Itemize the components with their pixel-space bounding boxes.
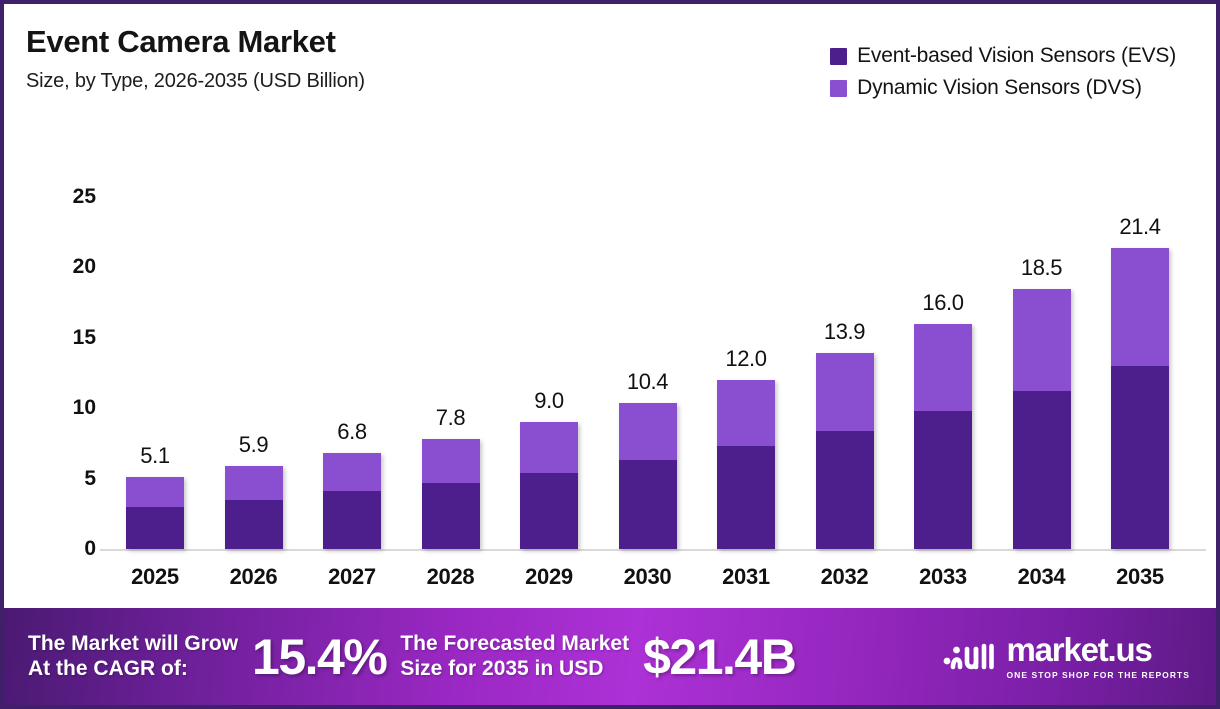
x-axis-tick: 2032 bbox=[800, 564, 890, 590]
bar-stack[interactable] bbox=[914, 324, 972, 549]
x-axis-baseline bbox=[100, 549, 1206, 551]
bar-stack[interactable] bbox=[520, 422, 578, 549]
logo-wordmark: market.us bbox=[1007, 633, 1152, 666]
cagr-caption: The Market will Grow At the CAGR of: bbox=[28, 632, 238, 682]
x-axis-tick: 2028 bbox=[406, 564, 496, 590]
y-axis: 0510152025 bbox=[36, 154, 96, 514]
x-axis-tick: 2033 bbox=[898, 564, 988, 590]
legend-item-dvs: Dynamic Vision Sensors (DVS) bbox=[830, 76, 1142, 100]
bar-segment-dvs[interactable] bbox=[323, 453, 381, 491]
bar-group[interactable]: 5.1 bbox=[126, 477, 184, 549]
bar-segment-evs[interactable] bbox=[126, 507, 184, 549]
market-us-logo-icon bbox=[943, 637, 997, 676]
y-axis-tick: 5 bbox=[36, 467, 96, 491]
bar-segment-evs[interactable] bbox=[717, 446, 775, 549]
bar-segment-evs[interactable] bbox=[1013, 391, 1071, 549]
forecast-caption: The Forecasted Market Size for 2035 in U… bbox=[400, 632, 629, 682]
bar-stack[interactable] bbox=[422, 439, 480, 549]
chart-plot-area: 0510152025 5.15.96.87.89.010.412.013.916… bbox=[4, 154, 1216, 609]
header-block: Event Camera Market Size, by Type, 2026-… bbox=[26, 24, 646, 93]
y-axis-tick: 10 bbox=[36, 396, 96, 420]
infographic-root: Event Camera Market Size, by Type, 2026-… bbox=[0, 0, 1220, 709]
bar-group[interactable]: 21.4 bbox=[1111, 248, 1169, 549]
market-us-logo[interactable]: market.us ONE STOP SHOP FOR THE REPORTS bbox=[943, 633, 1190, 680]
bar-stack[interactable] bbox=[717, 380, 775, 549]
x-axis-tick: 2029 bbox=[504, 564, 594, 590]
bar-segment-dvs[interactable] bbox=[914, 324, 972, 411]
bar-segment-dvs[interactable] bbox=[422, 439, 480, 483]
bar-segment-dvs[interactable] bbox=[1111, 248, 1169, 366]
bar-segment-dvs[interactable] bbox=[126, 477, 184, 507]
x-axis-tick: 2026 bbox=[209, 564, 299, 590]
legend-swatch-dvs bbox=[830, 80, 847, 97]
forecast-caption-line1: The Forecasted Market bbox=[400, 632, 629, 657]
page-subtitle: Size, by Type, 2026-2035 (USD Billion) bbox=[26, 70, 646, 93]
legend-item-evs: Event-based Vision Sensors (EVS) bbox=[830, 44, 1176, 68]
y-axis-tick: 25 bbox=[36, 185, 96, 209]
bar-segment-dvs[interactable] bbox=[816, 353, 874, 430]
bar-segment-evs[interactable] bbox=[816, 431, 874, 549]
bar-stack[interactable] bbox=[1013, 289, 1071, 549]
cagr-caption-line2: At the CAGR of: bbox=[28, 657, 238, 682]
bar-stack[interactable] bbox=[1111, 248, 1169, 549]
bar-value-label: 13.9 bbox=[800, 319, 890, 345]
x-axis-tick: 2025 bbox=[110, 564, 200, 590]
logo-tagline: ONE STOP SHOP FOR THE REPORTS bbox=[1007, 670, 1190, 680]
bar-stack[interactable] bbox=[126, 477, 184, 549]
bar-segment-evs[interactable] bbox=[225, 500, 283, 549]
bar-segment-evs[interactable] bbox=[422, 483, 480, 549]
legend-label-dvs: Dynamic Vision Sensors (DVS) bbox=[857, 76, 1142, 100]
summary-banner: The Market will Grow At the CAGR of: 15.… bbox=[4, 608, 1216, 705]
y-axis-tick: 15 bbox=[36, 326, 96, 350]
bar-group[interactable]: 7.8 bbox=[422, 439, 480, 549]
bar-value-label: 16.0 bbox=[898, 290, 988, 316]
forecast-caption-line2: Size for 2035 in USD bbox=[400, 657, 629, 682]
y-axis-tick: 20 bbox=[36, 255, 96, 279]
bar-segment-evs[interactable] bbox=[520, 473, 578, 549]
legend-label-evs: Event-based Vision Sensors (EVS) bbox=[857, 44, 1176, 68]
bar-group[interactable]: 12.0 bbox=[717, 380, 775, 549]
cagr-value: 15.4% bbox=[252, 628, 386, 686]
bar-stack[interactable] bbox=[323, 453, 381, 549]
x-axis-tick: 2030 bbox=[603, 564, 693, 590]
cagr-caption-line1: The Market will Grow bbox=[28, 632, 238, 657]
bar-stack[interactable] bbox=[816, 353, 874, 549]
forecast-value: $21.4B bbox=[643, 628, 795, 686]
x-axis-tick: 2031 bbox=[701, 564, 791, 590]
bar-group[interactable]: 10.4 bbox=[619, 403, 677, 549]
bar-segment-evs[interactable] bbox=[914, 411, 972, 549]
bar-segment-evs[interactable] bbox=[323, 491, 381, 549]
x-axis-tick: 2027 bbox=[307, 564, 397, 590]
bar-value-label: 10.4 bbox=[603, 369, 693, 395]
bar-group[interactable]: 6.8 bbox=[323, 453, 381, 549]
bar-segment-evs[interactable] bbox=[1111, 366, 1169, 549]
bar-group[interactable]: 5.9 bbox=[225, 466, 283, 549]
x-axis-tick: 2035 bbox=[1095, 564, 1185, 590]
bar-value-label: 21.4 bbox=[1095, 214, 1185, 240]
bar-segment-dvs[interactable] bbox=[225, 466, 283, 500]
bar-segment-dvs[interactable] bbox=[520, 422, 578, 473]
x-axis: 2025202620272028202920302031203220332034… bbox=[104, 554, 1204, 594]
bar-segment-dvs[interactable] bbox=[1013, 289, 1071, 392]
bar-group[interactable]: 16.0 bbox=[914, 324, 972, 549]
bar-series-container: 5.15.96.87.89.010.412.013.916.018.521.4 bbox=[104, 154, 1204, 549]
bar-value-label: 7.8 bbox=[406, 405, 496, 431]
bar-value-label: 5.9 bbox=[209, 432, 299, 458]
market-us-logo-text: market.us ONE STOP SHOP FOR THE REPORTS bbox=[1007, 633, 1190, 680]
page-title: Event Camera Market bbox=[26, 24, 646, 60]
bar-value-label: 18.5 bbox=[997, 255, 1087, 281]
bar-group[interactable]: 18.5 bbox=[1013, 289, 1071, 549]
bar-value-label: 9.0 bbox=[504, 388, 594, 414]
legend-swatch-evs bbox=[830, 48, 847, 65]
bar-value-label: 12.0 bbox=[701, 346, 791, 372]
y-axis-tick: 0 bbox=[36, 537, 96, 561]
bar-segment-dvs[interactable] bbox=[619, 403, 677, 461]
bar-stack[interactable] bbox=[225, 466, 283, 549]
bar-group[interactable]: 13.9 bbox=[816, 353, 874, 549]
x-axis-tick: 2034 bbox=[997, 564, 1087, 590]
bar-value-label: 5.1 bbox=[110, 443, 200, 469]
bar-stack[interactable] bbox=[619, 403, 677, 549]
bar-value-label: 6.8 bbox=[307, 419, 397, 445]
chart-legend: Event-based Vision Sensors (EVS) Dynamic… bbox=[830, 44, 1176, 100]
bar-segment-dvs[interactable] bbox=[717, 380, 775, 446]
bar-group[interactable]: 9.0 bbox=[520, 422, 578, 549]
bar-segment-evs[interactable] bbox=[619, 460, 677, 549]
